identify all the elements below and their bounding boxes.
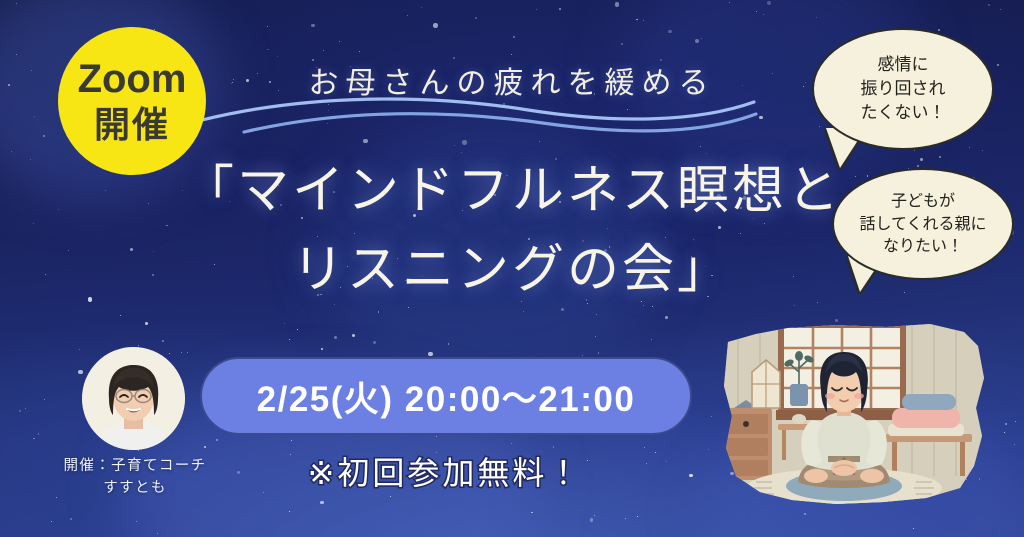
star (421, 7, 422, 8)
star (475, 17, 476, 18)
star (267, 26, 268, 27)
star (759, 116, 762, 119)
zoom-badge-line1: Zoom (78, 59, 187, 99)
star (1014, 444, 1015, 445)
star (187, 352, 188, 353)
star (44, 399, 45, 400)
star (708, 449, 709, 450)
star (598, 352, 599, 353)
star (523, 311, 524, 312)
star (454, 145, 455, 146)
star (327, 123, 328, 124)
star (695, 39, 700, 44)
star (373, 341, 376, 344)
star (359, 51, 360, 52)
star (138, 450, 139, 451)
zoom-badge: Zoom 開催 (58, 27, 206, 175)
star (689, 474, 692, 477)
star (320, 501, 323, 504)
star (120, 315, 121, 316)
star (668, 30, 671, 33)
star (513, 36, 515, 38)
star (289, 339, 290, 340)
star (378, 311, 379, 312)
star (816, 17, 817, 18)
bubble-2-line-2: 話してくれる親に (859, 213, 986, 235)
star (763, 14, 764, 15)
star (311, 24, 314, 27)
star (16, 54, 17, 55)
seminar-banner: Zoom 開催 お母さんの疲れを緩める 「マインドフルネス瞑想と リスニングの会… (0, 0, 1024, 537)
star (38, 433, 39, 434)
star (536, 9, 537, 10)
star (913, 528, 914, 529)
star (643, 20, 644, 21)
star (539, 141, 540, 142)
star (590, 518, 593, 521)
star (328, 110, 329, 111)
star (969, 147, 970, 148)
star (531, 512, 532, 513)
star (636, 19, 637, 20)
star (700, 146, 701, 147)
zoom-badge-line2: 開催 (94, 107, 170, 143)
star (284, 323, 285, 324)
bubble-1-line-1: 感情に (878, 53, 929, 77)
star (433, 23, 438, 28)
schedule-pill: 2/25(火) 20:00〜21:00 (200, 357, 692, 435)
star (596, 314, 597, 315)
star (25, 408, 26, 409)
star (819, 126, 820, 127)
host-caption: 開催：子育てコーチ すすとも (10, 455, 260, 500)
star (729, 2, 730, 3)
star (138, 345, 139, 346)
schedule-text: 2/25(火) 20:00〜21:00 (257, 371, 636, 422)
star (43, 135, 45, 137)
meditating-woman-illustration (716, 316, 992, 516)
bubble-2-line-1: 子どもが (891, 190, 955, 212)
bubble-2-line-3: なりたい！ (883, 235, 963, 257)
star (625, 518, 626, 519)
star (448, 343, 449, 344)
host-caption-line-2: すすとも (10, 477, 260, 499)
star (34, 116, 35, 117)
star (436, 436, 437, 437)
star (665, 316, 668, 319)
star (363, 139, 368, 144)
star (767, 1, 772, 6)
star (216, 439, 218, 441)
star (70, 518, 72, 520)
star (19, 410, 21, 412)
star (1004, 432, 1005, 433)
star (323, 50, 324, 51)
star (711, 416, 712, 417)
star (321, 348, 323, 350)
star (637, 516, 638, 517)
star (162, 340, 164, 342)
star (621, 43, 623, 45)
star (328, 104, 329, 105)
star (297, 329, 298, 330)
free-note: ※初回参加無料！ (205, 448, 685, 494)
star (595, 336, 596, 337)
speech-bubble-emotion: 感情に 振り回され たくない！ (812, 28, 994, 150)
star (1005, 423, 1007, 425)
star (511, 443, 512, 444)
free-note-text: ※初回参加無料！ (308, 454, 583, 492)
star (33, 438, 34, 439)
star (289, 511, 290, 512)
avatar-image (82, 347, 185, 450)
star (982, 150, 983, 151)
star (756, 11, 757, 12)
star (615, 2, 620, 7)
star (701, 38, 702, 39)
star (1015, 421, 1016, 422)
star (988, 4, 990, 6)
star (1000, 9, 1001, 10)
star (334, 336, 337, 339)
star (594, 515, 595, 516)
star (428, 352, 433, 357)
star (145, 322, 148, 325)
bubble-1-line-2: 振り回され (861, 77, 946, 101)
avatar (82, 347, 185, 450)
star (352, 334, 355, 337)
star (16, 3, 17, 4)
star (267, 49, 268, 50)
star (511, 54, 512, 55)
star (157, 533, 158, 534)
star (651, 339, 652, 340)
meditation-scene-icon (716, 316, 992, 516)
host-portrait-icon (82, 347, 185, 450)
bubble-1-line-3: たくない！ (861, 101, 946, 125)
star (627, 109, 628, 110)
star (390, 496, 391, 497)
star (462, 140, 467, 145)
star (914, 150, 915, 151)
catchphrase-text: お母さんの疲れを緩める (309, 58, 716, 102)
speech-bubble-child: 子どもが 話してくれる親に なりたい！ (832, 168, 1014, 280)
star (559, 8, 561, 10)
star (136, 521, 137, 522)
star (582, 355, 583, 356)
star (407, 15, 408, 16)
star (339, 41, 340, 42)
star (938, 29, 940, 31)
star (291, 440, 292, 441)
star (79, 349, 80, 350)
star (51, 521, 52, 522)
star (503, 103, 505, 105)
host-caption-line-1: 開催：子育てコーチ (10, 455, 260, 477)
